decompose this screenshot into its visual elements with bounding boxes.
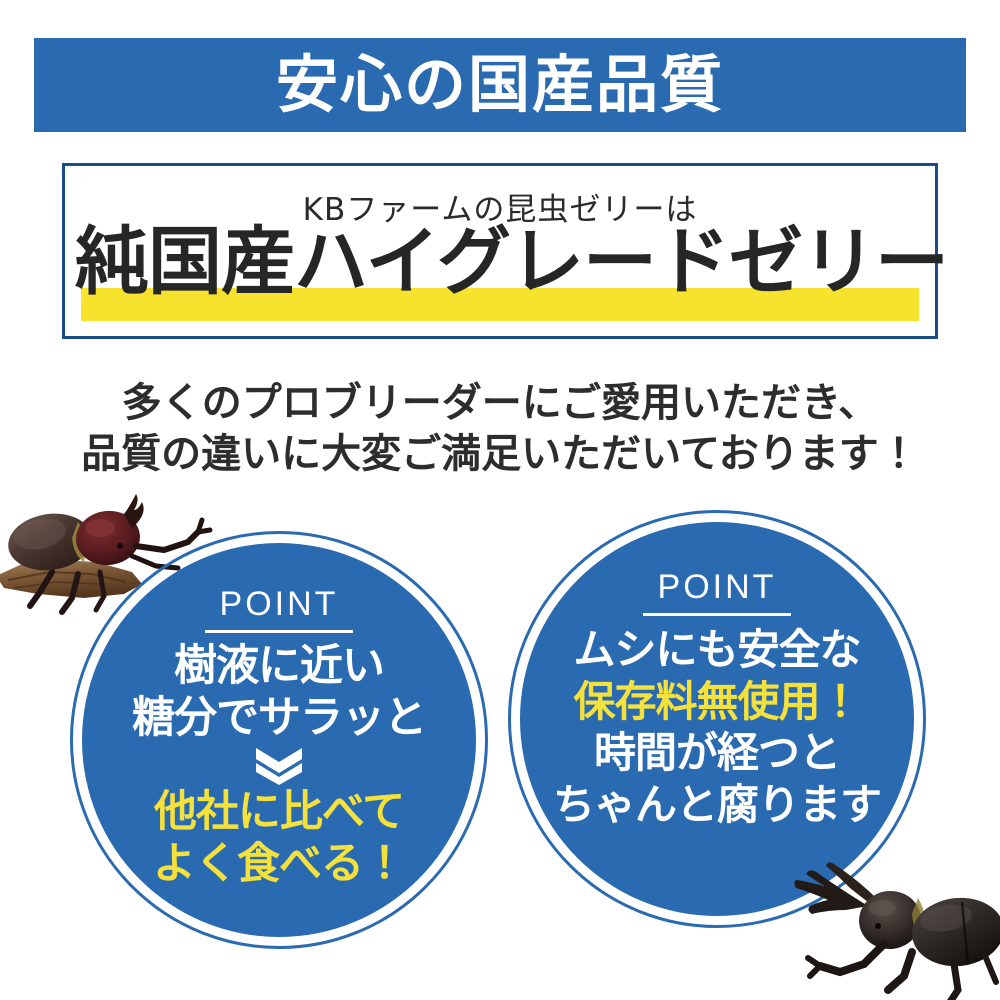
point-label-left: POINT	[220, 587, 339, 621]
product-claim-box: KBファームの昆虫ゼリーは 純国産ハイグレードゼリー	[62, 163, 938, 339]
description-block: 多くのプロブリーダーにご愛用いただき、 品質の違いに大変ご満足いただいております…	[0, 378, 1000, 480]
point-right-line-4: ちゃんと腐ります	[553, 779, 881, 831]
description-line-1: 多くのプロブリーダーにご愛用いただき、	[0, 378, 1000, 429]
point-circle-left: POINT 樹液に近い 糖分でサラッと 他社に比べて よく食べる！	[70, 531, 488, 949]
point-right-line-1: ムシにも安全な	[573, 624, 860, 676]
claim-headline: 純国産ハイグレードゼリー	[75, 224, 925, 302]
point-left-line-4: よく食べる！	[153, 839, 405, 891]
claim-headline-wrap: 純国産ハイグレードゼリー	[75, 226, 925, 326]
point-underline-right	[643, 613, 791, 616]
double-chevron-down-icon	[252, 745, 306, 785]
circle-content-left: POINT 樹液に近い 糖分でサラッと 他社に比べて よく食べる！	[82, 543, 476, 937]
advertisement-page: 安心の国産品質 KBファームの昆虫ゼリーは 純国産ハイグレードゼリー 多くのプロ…	[0, 0, 1000, 1000]
point-label-right: POINT	[658, 570, 777, 604]
point-right-line-2: 保存料無使用！	[573, 676, 860, 728]
point-right-line-3: 時間が経つと	[594, 727, 840, 779]
page-title: 安心の国産品質	[276, 54, 724, 116]
point-left-line-2: 糖分でサラッと	[132, 693, 426, 745]
point-left-line-3: 他社に比べて	[154, 787, 404, 839]
point-left-line-1: 樹液に近い	[174, 641, 384, 693]
rhinoceros-beetle-illustration	[772, 848, 1000, 1000]
description-line-2: 品質の違いに大変ご満足いただいております！	[0, 429, 1000, 480]
point-underline-left	[205, 630, 353, 633]
header-banner: 安心の国産品質	[34, 38, 966, 132]
beetle-icon-bottom-right	[772, 848, 1000, 1000]
